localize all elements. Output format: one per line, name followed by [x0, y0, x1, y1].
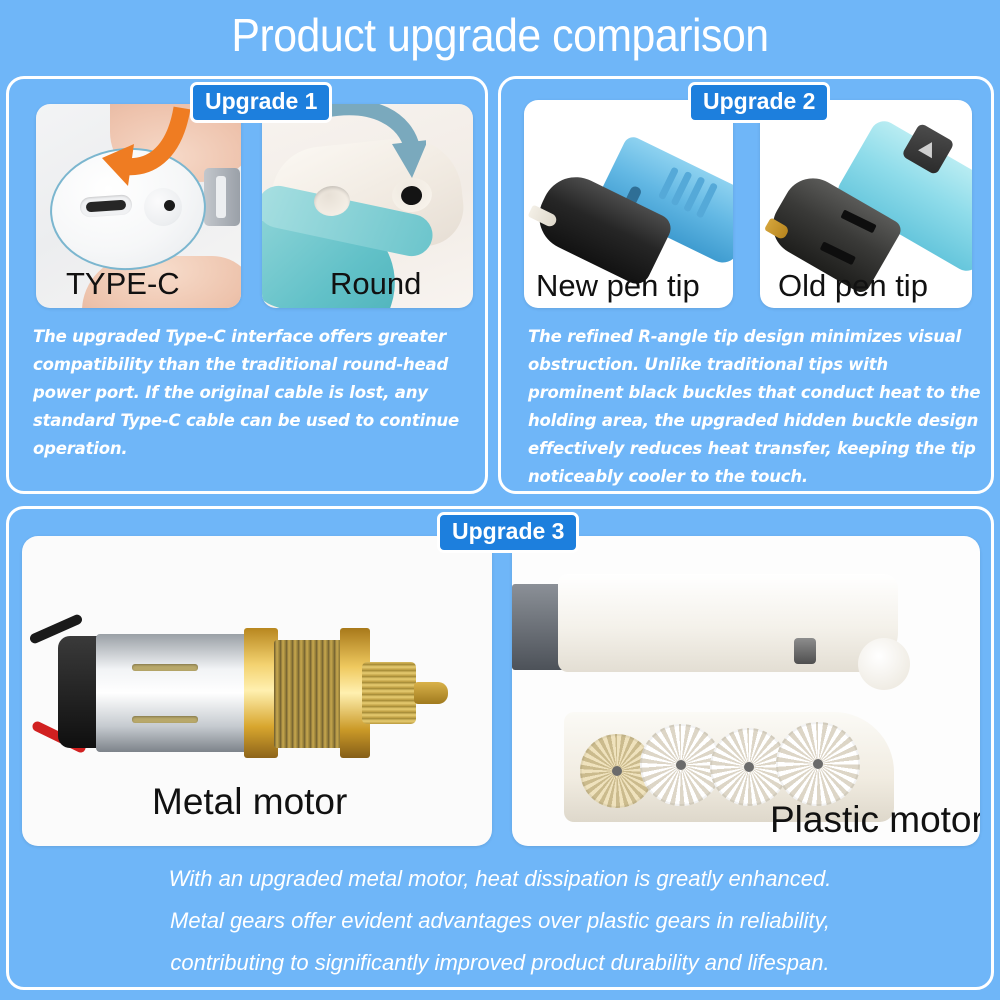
photo-card-plastic-motor: Plastic motor	[512, 536, 980, 846]
photo-caption: Plastic motor	[770, 802, 980, 838]
description-line: Metal gears offer evident advantages ove…	[40, 900, 960, 942]
brass-flange-icon	[244, 628, 278, 758]
badge-upgrade-2: Upgrade 2	[688, 82, 830, 123]
photo-card-new-pen-tip: New pen tip	[524, 100, 733, 308]
screw-icon	[794, 638, 816, 664]
output-shaft-icon	[414, 682, 448, 704]
photo-caption: Old pen tip	[778, 268, 928, 304]
bearing-recess-icon	[858, 638, 910, 690]
buckle-icon	[840, 209, 876, 233]
upgrade-1-description: The upgraded Type-C interface offers gre…	[33, 323, 483, 463]
orange-arrow-icon	[88, 104, 192, 206]
motor-slot-icon	[132, 716, 198, 723]
description-line: With an upgraded metal motor, heat dissi…	[40, 858, 960, 900]
photo-card-old-pen-tip: Old pen tip	[760, 100, 972, 308]
page-title: Product upgrade comparison	[35, 4, 965, 66]
badge-upgrade-3: Upgrade 3	[437, 512, 579, 553]
photo-card-type-c: TYPE-C	[36, 104, 241, 308]
metal-gear-train-icon	[274, 640, 346, 748]
description-line: contributing to significantly improved p…	[40, 942, 960, 984]
upgrade-3-description: With an upgraded metal motor, heat dissi…	[40, 858, 960, 984]
photo-caption: Round	[330, 266, 421, 302]
buckle-icon	[820, 241, 856, 265]
infographic-page: Product upgrade comparison TYPE-C	[0, 0, 1000, 1000]
brass-pinion-icon	[362, 662, 416, 724]
photo-caption: Metal motor	[152, 784, 347, 820]
strap-icon	[204, 168, 240, 226]
motor-can-icon	[96, 634, 248, 752]
photo-card-round: Round	[262, 104, 473, 308]
photo-caption: TYPE-C	[66, 266, 180, 302]
photo-card-metal-motor: Metal motor	[22, 536, 492, 846]
upgrade-2-description: The refined R-angle tip design minimizes…	[528, 323, 986, 491]
plastic-gear-icon	[776, 722, 860, 806]
badge-upgrade-1: Upgrade 1	[190, 82, 332, 123]
motor-slot-icon	[132, 664, 198, 671]
gearbox-shell-icon	[558, 574, 898, 672]
photo-caption: New pen tip	[536, 268, 700, 304]
